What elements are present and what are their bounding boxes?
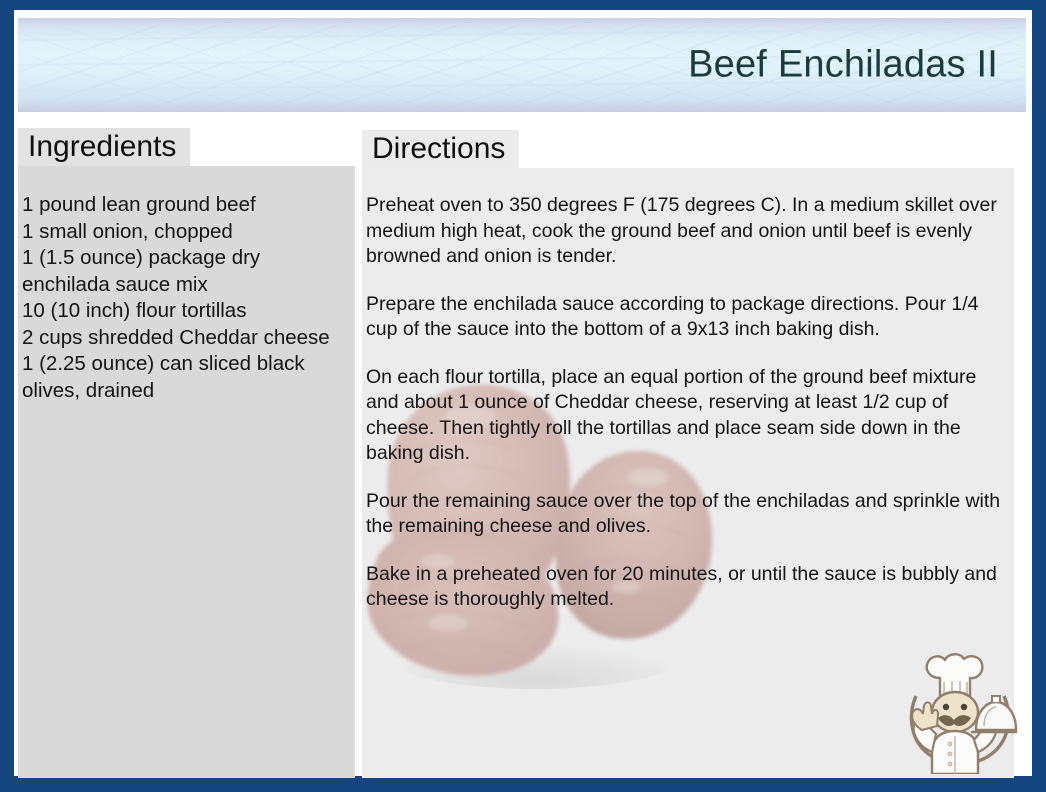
direction-step: On each flour tortilla, place an equal p…: [366, 365, 1014, 467]
list-item: 1 pound lean ground beef: [22, 192, 352, 219]
list-item: 10 (10 inch) flour tortillas: [22, 298, 352, 325]
direction-step: Preheat oven to 350 degrees F (175 degre…: [366, 193, 1014, 270]
direction-step: Pour the remaining sauce over the top of…: [366, 489, 1014, 540]
page-title: Beef Enchiladas II: [688, 44, 998, 87]
header-band: Beef Enchiladas II: [18, 18, 1026, 112]
section-heading-directions: Directions: [362, 130, 519, 168]
section-heading-ingredients: Ingredients: [18, 128, 190, 166]
list-item: 1 (2.25 ounce) can sliced black olives, …: [22, 351, 352, 404]
recipe-card: Beef Enchiladas II Ingredients Direction…: [0, 0, 1046, 792]
list-item: 1 small onion, chopped: [22, 219, 352, 246]
list-item: 2 cups shredded Cheddar cheese: [22, 325, 352, 352]
directions-list: Preheat oven to 350 degrees F (175 degre…: [366, 193, 1014, 635]
direction-step: Prepare the enchilada sauce according to…: [366, 292, 1014, 343]
direction-step: Bake in a preheated oven for 20 minutes,…: [366, 562, 1014, 613]
ingredients-list: 1 pound lean ground beef 1 small onion, …: [22, 192, 352, 404]
list-item: 1 (1.5 ounce) package dry enchilada sauc…: [22, 245, 352, 298]
